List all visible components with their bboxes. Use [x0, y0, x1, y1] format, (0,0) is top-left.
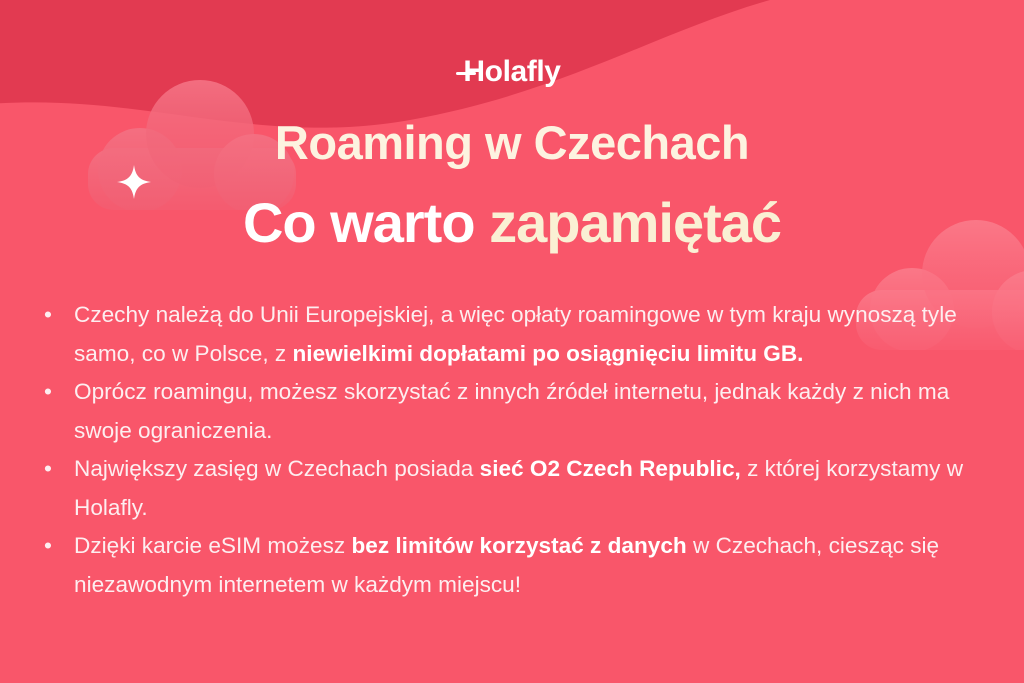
list-item-text-bold: bez limitów korzystać z danych: [351, 533, 686, 558]
subtitle-accent: zapamiętać: [489, 191, 781, 254]
page-subtitle: Co warto zapamiętać: [0, 194, 1024, 253]
subtitle-plain: Co warto: [243, 191, 489, 254]
list-item-text-regular: Dzięki karcie eSIM możesz: [74, 533, 351, 558]
list-item: •Największy zasięg w Czechach posiada si…: [38, 450, 998, 527]
bullet-list: •Czechy należą do Unii Europejskiej, a w…: [38, 296, 998, 604]
list-item-text: Czechy należą do Unii Europejskiej, a wi…: [74, 296, 998, 373]
list-item-text: Największy zasięg w Czechach posiada sie…: [74, 450, 998, 527]
bullet-dot-icon: •: [38, 296, 74, 335]
bullet-dot-icon: •: [38, 450, 74, 489]
list-item: •Czechy należą do Unii Europejskiej, a w…: [38, 296, 998, 373]
infographic-poster: Holafly Roaming w Czechach Co warto zapa…: [0, 0, 1024, 683]
list-item-text-bold: niewielkimi dopłatami po osiągnięciu lim…: [292, 341, 803, 366]
bullet-dot-icon: •: [38, 373, 74, 412]
page-title: Roaming w Czechach: [0, 118, 1024, 167]
brand-logo: Holafly: [0, 55, 1024, 89]
list-item-text-regular: Największy zasięg w Czechach posiada: [74, 456, 480, 481]
holafly-crossed-h-icon: [456, 72, 476, 75]
list-item-text: Dzięki karcie eSIM możesz bez limitów ko…: [74, 527, 998, 604]
list-item-text: Oprócz roamingu, możesz skorzystać z inn…: [74, 373, 998, 450]
bullet-dot-icon: •: [38, 527, 74, 566]
list-item: •Oprócz roamingu, możesz skorzystać z in…: [38, 373, 998, 450]
list-item: •Dzięki karcie eSIM możesz bez limitów k…: [38, 527, 998, 604]
list-item-text-regular: Oprócz roamingu, możesz skorzystać z inn…: [74, 379, 949, 443]
brand-name: Holafly: [463, 55, 560, 88]
list-item-text-bold: sieć O2 Czech Republic,: [480, 456, 741, 481]
